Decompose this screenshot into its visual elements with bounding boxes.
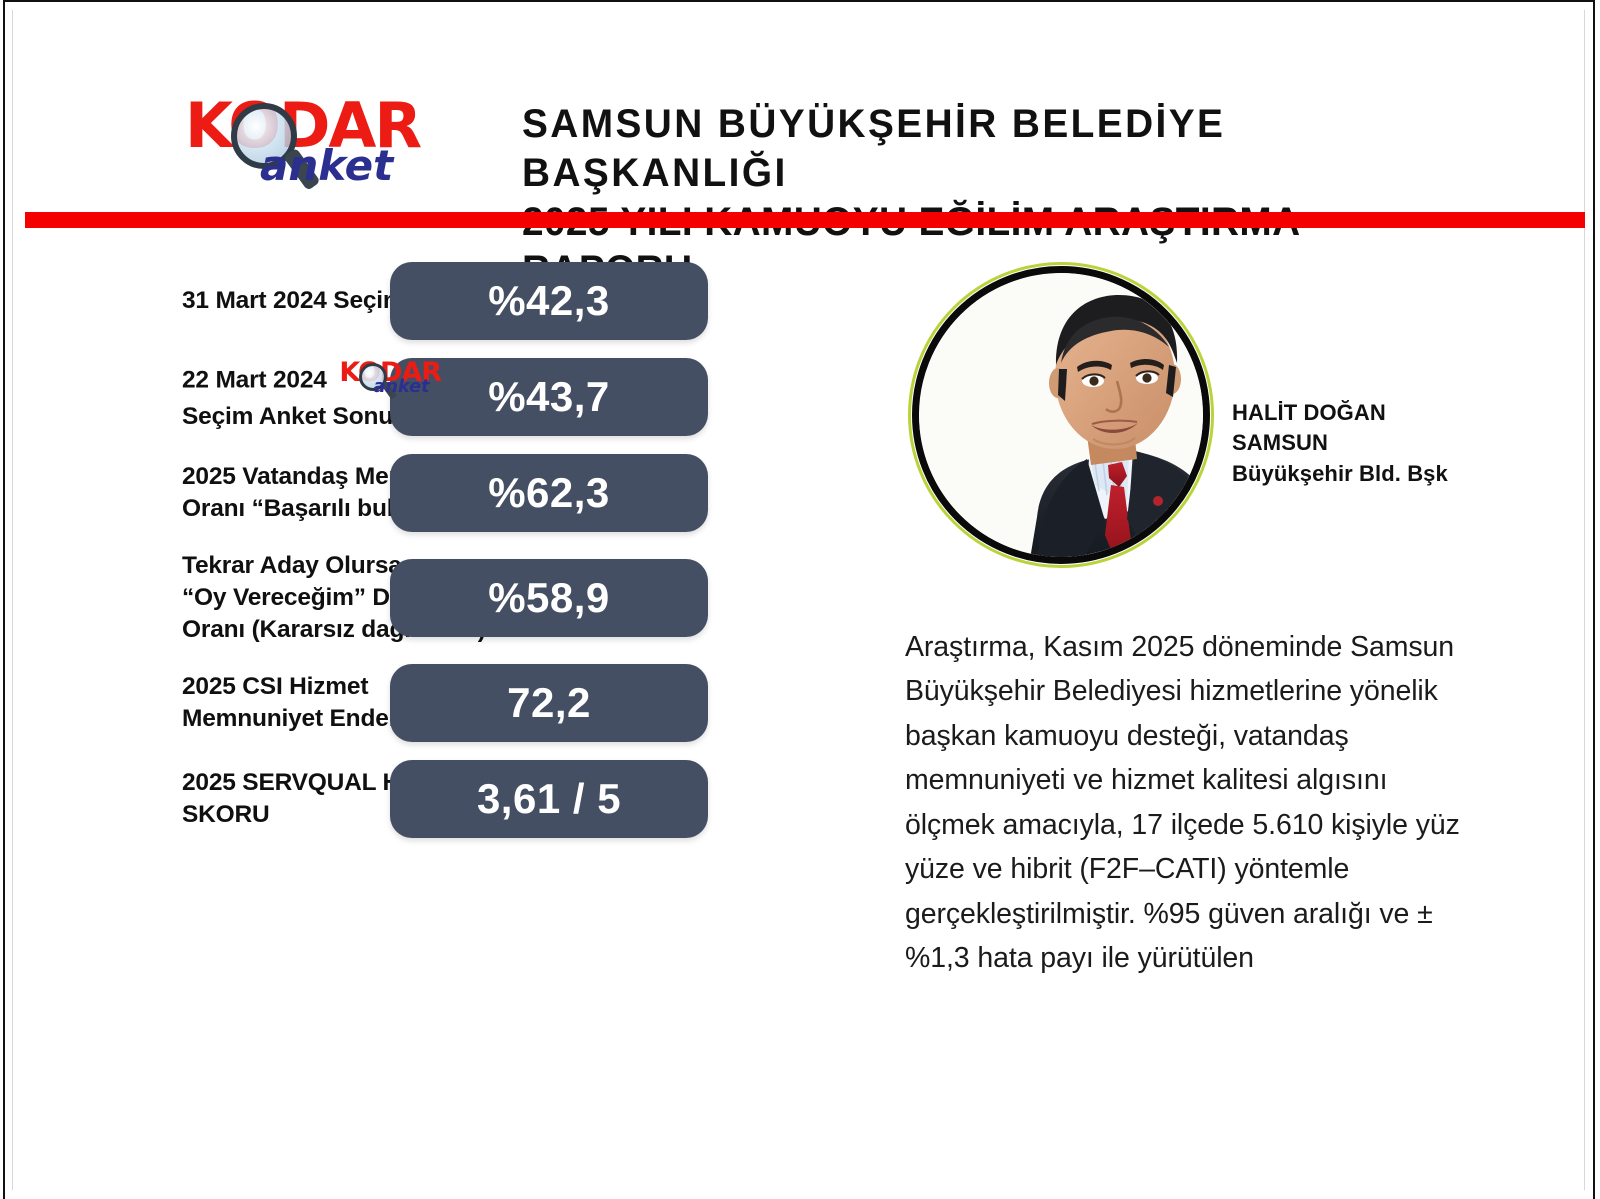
metric-label: 2025 SERVQUAL Hizmet SKORU bbox=[0, 767, 390, 831]
metric-value-pill: 72,2 bbox=[390, 664, 708, 742]
metric-label: 22 Mart 2024 KODARanket Seçim Anket Sonu… bbox=[0, 361, 390, 433]
report-header: KODAR anket SAMSUN BÜYÜKŞEHİR BELEDİYE B… bbox=[0, 0, 1600, 218]
metric-label-line: 2025 CSI Hizmet bbox=[182, 671, 390, 703]
infographic-page: KODAR anket SAMSUN BÜYÜKŞEHİR BELEDİYE B… bbox=[0, 0, 1600, 1199]
logo-sub-text: anket bbox=[260, 145, 393, 187]
metric-row: 2025 SERVQUAL Hizmet SKORU 3,61 / 5 bbox=[0, 760, 900, 838]
metric-row: 22 Mart 2024 KODARanket Seçim Anket Sonu… bbox=[0, 358, 900, 436]
metric-row: Tekrar Aday Olursa “Oy Vereceğim” Diyenl… bbox=[0, 550, 900, 646]
kodar-anket-logo-inline: KODARanket bbox=[339, 361, 451, 401]
portrait-name: HALİT DOĞAN bbox=[1232, 398, 1448, 428]
summary-paragraph: Araştırma, Kasım 2025 döneminde Samsun B… bbox=[905, 625, 1475, 981]
metric-row: 2025 CSI Hizmet Memnuniyet Endeksi 72,2 bbox=[0, 664, 900, 742]
kodar-anket-logo: KODAR anket bbox=[185, 95, 435, 195]
metric-label: 31 Mart 2024 Seçim Sonucu bbox=[0, 285, 390, 317]
metric-label-text: 22 Mart 2024 bbox=[182, 367, 333, 394]
metric-label-line-with-logo: 22 Mart 2024 KODARanket bbox=[182, 361, 390, 401]
metric-row: 2025 Vatandaş Memnuniyet Oranı “Başarılı… bbox=[0, 454, 900, 532]
metric-value-pill: 3,61 / 5 bbox=[390, 760, 708, 838]
metric-rows: 31 Mart 2024 Seçim Sonucu %42,3 22 Mart … bbox=[0, 262, 900, 856]
metric-label-line: Tekrar Aday Olursa bbox=[182, 550, 390, 582]
header-accent-bar bbox=[25, 212, 1585, 228]
metric-value-pill: %58,9 bbox=[390, 559, 708, 637]
metric-label-line: Memnuniyet Endeksi bbox=[182, 703, 390, 735]
inline-logo-sub-text: anket bbox=[373, 378, 429, 396]
metric-label-line: 31 Mart 2024 Seçim Sonucu bbox=[182, 285, 390, 317]
metric-label: 2025 CSI Hizmet Memnuniyet Endeksi bbox=[0, 671, 390, 735]
avatar bbox=[908, 262, 1214, 568]
title-line-1: SAMSUN BÜYÜKŞEHİR BELEDİYE BAŞKANLIĞI bbox=[522, 100, 1453, 198]
metric-value-pill: %42,3 bbox=[390, 262, 708, 340]
metric-label-line: SKORU bbox=[182, 799, 390, 831]
portrait-name-block: HALİT DOĞAN SAMSUN Büyükşehir Bld. Bşk bbox=[1232, 398, 1448, 489]
metric-label-line: “Oy Vereceğim” Diyenler bbox=[182, 582, 390, 614]
metric-value-pill: %62,3 bbox=[390, 454, 708, 532]
avatar-photo bbox=[919, 273, 1203, 557]
metric-label-line: 2025 SERVQUAL Hizmet bbox=[182, 767, 390, 799]
metric-row: 31 Mart 2024 Seçim Sonucu %42,3 bbox=[0, 262, 900, 340]
metric-label-line: 2025 Vatandaş Memnuniyet bbox=[182, 461, 390, 493]
metric-label: Tekrar Aday Olursa “Oy Vereceğim” Diyenl… bbox=[0, 550, 390, 646]
portrait-role: Büyükşehir Bld. Bşk bbox=[1232, 459, 1448, 489]
metric-label-line: Oranı (Kararsız dağılımsız) bbox=[182, 614, 390, 646]
metric-label: 2025 Vatandaş Memnuniyet Oranı “Başarılı… bbox=[0, 461, 390, 525]
metric-label-line: Oranı “Başarılı bulanlar” bbox=[182, 493, 390, 525]
avatar-ring-black bbox=[912, 266, 1210, 564]
portrait-city: SAMSUN bbox=[1232, 428, 1448, 458]
metric-label-line: Seçim Anket Sonucu bbox=[182, 401, 390, 433]
portrait-illustration bbox=[919, 273, 1203, 557]
